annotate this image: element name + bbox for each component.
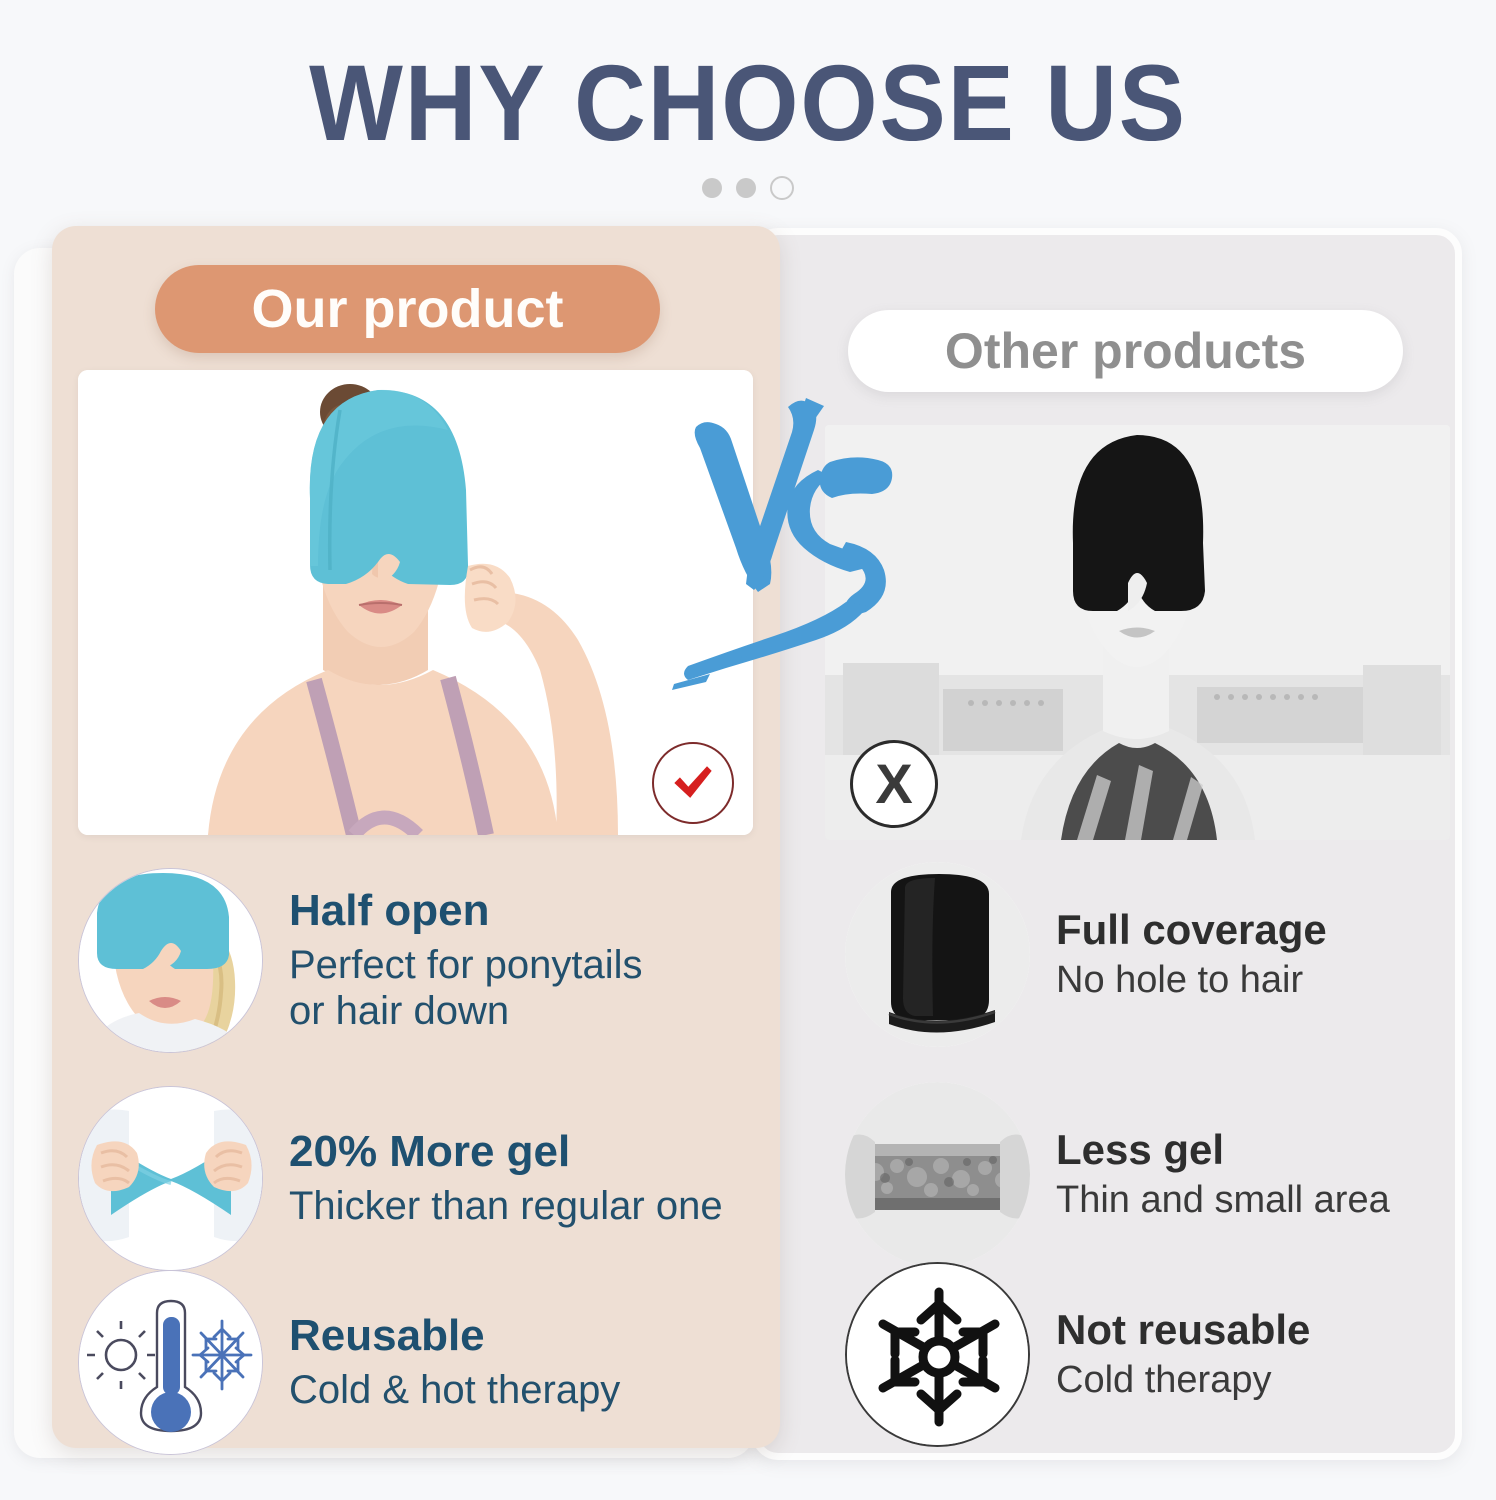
thin-gel-pack-icon [845, 1082, 1030, 1267]
feature-half-open-text: Half open Perfect for ponytails or hair … [289, 887, 643, 1033]
check-icon [665, 755, 721, 811]
our-product-badge: Our product [155, 265, 660, 353]
feature-full-coverage-text: Full coverage No hole to hair [1056, 907, 1327, 1003]
carousel-dot-2[interactable] [736, 178, 756, 198]
sun-thermometer-snowflake-thumbnail [78, 1270, 263, 1455]
check-mark-badge [652, 742, 734, 824]
feature-full-coverage-title: Full coverage [1056, 907, 1327, 953]
x-icon: X [875, 756, 912, 812]
stretched-gel-cap-thumbnail [78, 1086, 263, 1271]
infographic-root: WHY CHOOSE US Our product Other products [0, 0, 1496, 1500]
feature-not-reusable-title: Not reusable [1056, 1307, 1310, 1353]
feature-full-coverage: Full coverage No hole to hair [845, 862, 1327, 1047]
feature-more-gel: 20% More gel Thicker than regular one [78, 1086, 723, 1271]
feature-half-open-subtitle: Perfect for ponytails or hair down [289, 942, 643, 1034]
our-product-photo-illustration [78, 370, 753, 835]
black-full-cap-thumbnail [845, 862, 1030, 1047]
black-full-cap-icon [845, 862, 1030, 1047]
snowflake-icon [847, 1264, 1030, 1447]
page-title: WHY CHOOSE US [60, 46, 1436, 159]
our-product-badge-label: Our product [252, 278, 564, 340]
feature-reusable: Reusable Cold & hot therapy [78, 1270, 620, 1455]
feature-half-open: Half open Perfect for ponytails or hair … [78, 868, 643, 1053]
feature-less-gel-title: Less gel [1056, 1127, 1390, 1173]
x-mark-badge: X [850, 740, 938, 828]
carousel-dot-1[interactable] [702, 178, 722, 198]
thin-gel-pack-thumbnail [845, 1082, 1030, 1267]
stretched-gel-cap-icon [79, 1087, 263, 1271]
other-products-badge-label: Other products [945, 322, 1306, 380]
feature-not-reusable-text: Not reusable Cold therapy [1056, 1307, 1310, 1403]
carousel-dot-3[interactable] [770, 176, 794, 200]
our-product-hero-image [78, 370, 753, 835]
feature-not-reusable: Not reusable Cold therapy [845, 1262, 1310, 1447]
feature-less-gel-text: Less gel Thin and small area [1056, 1127, 1390, 1223]
feature-more-gel-text: 20% More gel Thicker than regular one [289, 1128, 723, 1228]
snowflake-thumbnail [845, 1262, 1030, 1447]
feature-more-gel-title: 20% More gel [289, 1128, 723, 1176]
sun-thermometer-snowflake-icon [79, 1271, 263, 1455]
feature-less-gel-subtitle: Thin and small area [1056, 1179, 1390, 1223]
half-open-cap-icon [79, 869, 263, 1053]
feature-full-coverage-subtitle: No hole to hair [1056, 959, 1327, 1003]
carousel-dots[interactable] [0, 176, 1496, 200]
feature-less-gel: Less gel Thin and small area [845, 1082, 1390, 1267]
feature-reusable-title: Reusable [289, 1312, 620, 1360]
feature-more-gel-subtitle: Thicker than regular one [289, 1183, 723, 1229]
half-open-cap-thumbnail [78, 868, 263, 1053]
feature-reusable-text: Reusable Cold & hot therapy [289, 1312, 620, 1412]
feature-half-open-title: Half open [289, 887, 643, 935]
other-products-badge: Other products [848, 310, 1403, 392]
feature-not-reusable-subtitle: Cold therapy [1056, 1359, 1310, 1403]
feature-reusable-subtitle: Cold & hot therapy [289, 1367, 620, 1413]
